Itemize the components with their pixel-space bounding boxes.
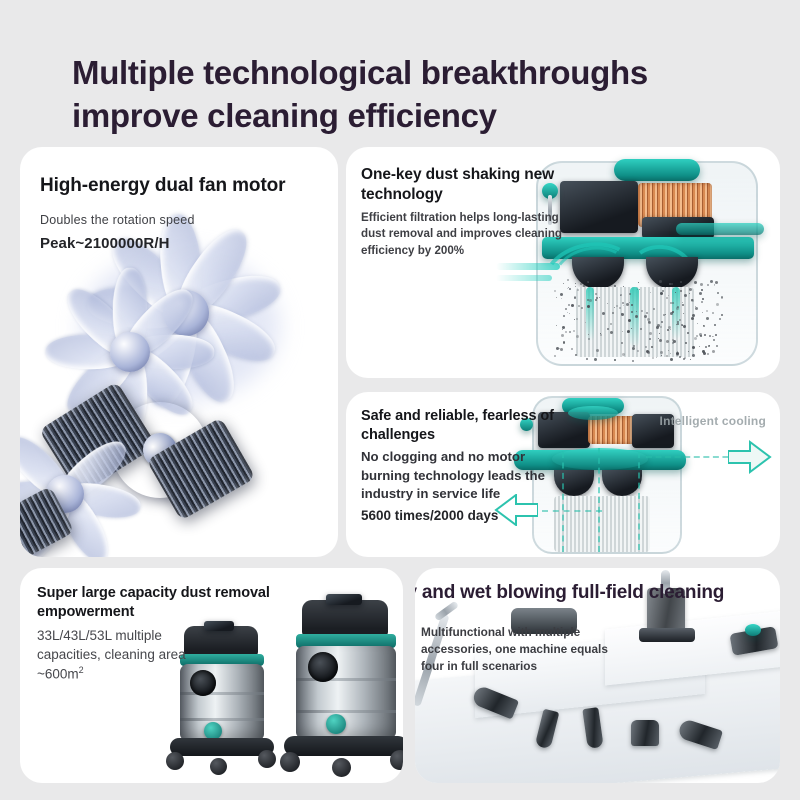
fan-blade bbox=[93, 292, 201, 384]
card-large-capacity[interactable]: Super large capacity dust removal empowe… bbox=[20, 568, 403, 783]
filter-cylinder bbox=[576, 287, 694, 357]
fan-blade bbox=[49, 482, 117, 557]
cyclone-cone bbox=[646, 257, 698, 289]
airflow-jet bbox=[586, 287, 594, 341]
vacuum-handle bbox=[326, 594, 362, 605]
vacuum-caster bbox=[390, 750, 403, 770]
card-metric: Peak~2100000R/H bbox=[40, 235, 170, 252]
card-title: One-key dust shaking new technology bbox=[361, 165, 571, 205]
fan-blade bbox=[58, 336, 146, 424]
card-title: Super large capacity dust removal empowe… bbox=[37, 584, 297, 622]
card-title: Dry and wet blowing full-field cleaning bbox=[415, 582, 745, 604]
vacuum-caster bbox=[280, 752, 300, 772]
card-body: Multifunctional with multiple accessorie… bbox=[421, 624, 621, 675]
fan-blade bbox=[125, 335, 214, 369]
machine-top-cap bbox=[614, 159, 700, 181]
intake-arrow-line bbox=[542, 510, 602, 512]
vacuum-hose-port bbox=[308, 652, 338, 682]
teal-air-duct bbox=[676, 223, 764, 235]
fan-blade bbox=[165, 220, 257, 328]
vacuum-knob bbox=[326, 714, 346, 734]
fan-blade bbox=[20, 429, 79, 508]
vacuum-band bbox=[180, 692, 264, 695]
fan-blade bbox=[140, 301, 206, 412]
fan-blade bbox=[58, 478, 143, 523]
vacuum-unit-large bbox=[282, 600, 403, 780]
fan-hub bbox=[110, 332, 150, 372]
vacuum-teal-collar bbox=[296, 634, 396, 648]
fan-blade bbox=[113, 268, 147, 357]
vacuum-caster bbox=[210, 758, 227, 775]
curved-nozzle bbox=[677, 718, 723, 750]
fan-blade bbox=[46, 335, 135, 369]
card-metric: 5600 times/2000 days bbox=[361, 508, 498, 523]
filter-cylinder bbox=[554, 496, 650, 552]
fan-blade bbox=[20, 478, 71, 516]
cooling-arrow-line bbox=[646, 456, 738, 458]
fan-blade bbox=[113, 347, 147, 436]
copper-winding bbox=[588, 416, 640, 444]
card-body: No clogging and no motor burning technol… bbox=[361, 448, 566, 504]
fan-glow bbox=[80, 252, 280, 402]
crevice-nozzle-3 bbox=[582, 707, 603, 749]
fan-blade bbox=[171, 291, 282, 371]
fan-hub bbox=[46, 475, 84, 513]
airflow-band bbox=[496, 275, 552, 281]
page-title-line-2: improve cleaning efficiency bbox=[72, 95, 712, 138]
vacuum-knob bbox=[204, 722, 222, 740]
card-high-energy-motor[interactable]: High-energy dual fan motor Doubles the r… bbox=[20, 147, 338, 557]
power-brush-accessory bbox=[729, 626, 778, 656]
card-subtitle: Doubles the rotation speed bbox=[40, 213, 195, 227]
card-body: 33L/43L/53L multiple capacities, cleanin… bbox=[37, 626, 217, 684]
dust-particles bbox=[554, 279, 724, 363]
card-title: High-energy dual fan motor bbox=[40, 175, 285, 197]
page-title: Multiple technological breakthroughs imp… bbox=[72, 52, 712, 138]
fan-motor-illustration bbox=[20, 147, 338, 557]
vacuum-motor-head bbox=[302, 600, 388, 636]
copper-winding bbox=[638, 183, 712, 227]
fan-assembly-graphic bbox=[20, 242, 338, 557]
vacuum-base bbox=[170, 738, 274, 756]
crevice-nozzle-1 bbox=[471, 684, 519, 719]
fan-blade bbox=[86, 284, 193, 333]
card-title: Safe and reliable, fearless of challenge… bbox=[361, 407, 576, 445]
teal-collar bbox=[552, 448, 648, 470]
page-title-line-1: Multiple technological breakthroughs bbox=[72, 54, 648, 91]
fan-blade bbox=[58, 280, 146, 368]
cooling-flow-line bbox=[638, 452, 640, 550]
wide-nozzle bbox=[631, 720, 659, 746]
vacuum-band bbox=[180, 718, 264, 721]
fan-blade bbox=[20, 482, 81, 557]
capacity-superscript: 2 bbox=[79, 665, 84, 675]
capacity-line-2: capacities, cleaning area bbox=[37, 647, 186, 662]
fan-blade bbox=[157, 213, 206, 320]
vacuum-band bbox=[296, 678, 396, 681]
motor-stator bbox=[146, 417, 255, 521]
card-dry-wet-blowing[interactable]: Dry and wet blowing full-field cleaning … bbox=[415, 568, 780, 783]
fan-blade bbox=[51, 433, 133, 509]
dust-cup-base bbox=[639, 628, 695, 642]
motor-impeller bbox=[95, 385, 225, 515]
airflow-jet bbox=[630, 287, 639, 347]
motor-stator bbox=[39, 381, 157, 494]
crevice-nozzle-2 bbox=[535, 709, 560, 750]
card-safe-and-reliable[interactable]: Intelligent cooling Safe and reliable, f… bbox=[346, 392, 780, 557]
fan-blade bbox=[114, 336, 202, 424]
vacuum-drum bbox=[296, 646, 396, 738]
vacuum-caster bbox=[258, 750, 276, 768]
card-body: Efficient filtration helps long-lasting … bbox=[361, 210, 576, 259]
capacity-line-3: ~600m bbox=[37, 667, 79, 682]
display-platform-upper bbox=[605, 611, 780, 686]
cyclone-cone bbox=[572, 257, 624, 289]
fan-hub bbox=[163, 290, 209, 336]
fan-blade bbox=[174, 267, 285, 333]
vacuum-caster bbox=[166, 752, 184, 770]
vacuum-caster bbox=[332, 758, 351, 777]
card-one-key-dust-shaking[interactable]: One-key dust shaking new technology Effi… bbox=[346, 147, 780, 378]
vacuum-base bbox=[284, 736, 403, 756]
motor-stator bbox=[20, 486, 75, 557]
cyclone-cone bbox=[602, 470, 642, 496]
motor-block bbox=[642, 217, 714, 239]
arrow-right-icon bbox=[728, 440, 772, 474]
cooling-flow-line bbox=[598, 448, 600, 552]
airflow-curve bbox=[622, 240, 700, 311]
capacity-line-1: 33L/43L/53L multiple bbox=[37, 628, 162, 643]
vacuum-band bbox=[296, 710, 396, 713]
intelligent-cooling-label: Intelligent cooling bbox=[660, 414, 766, 428]
fan-blade bbox=[114, 280, 202, 368]
power-brush-trim bbox=[745, 624, 761, 636]
airflow-jet bbox=[672, 287, 680, 339]
airflow-band bbox=[496, 263, 560, 270]
fan-blade bbox=[164, 298, 244, 409]
